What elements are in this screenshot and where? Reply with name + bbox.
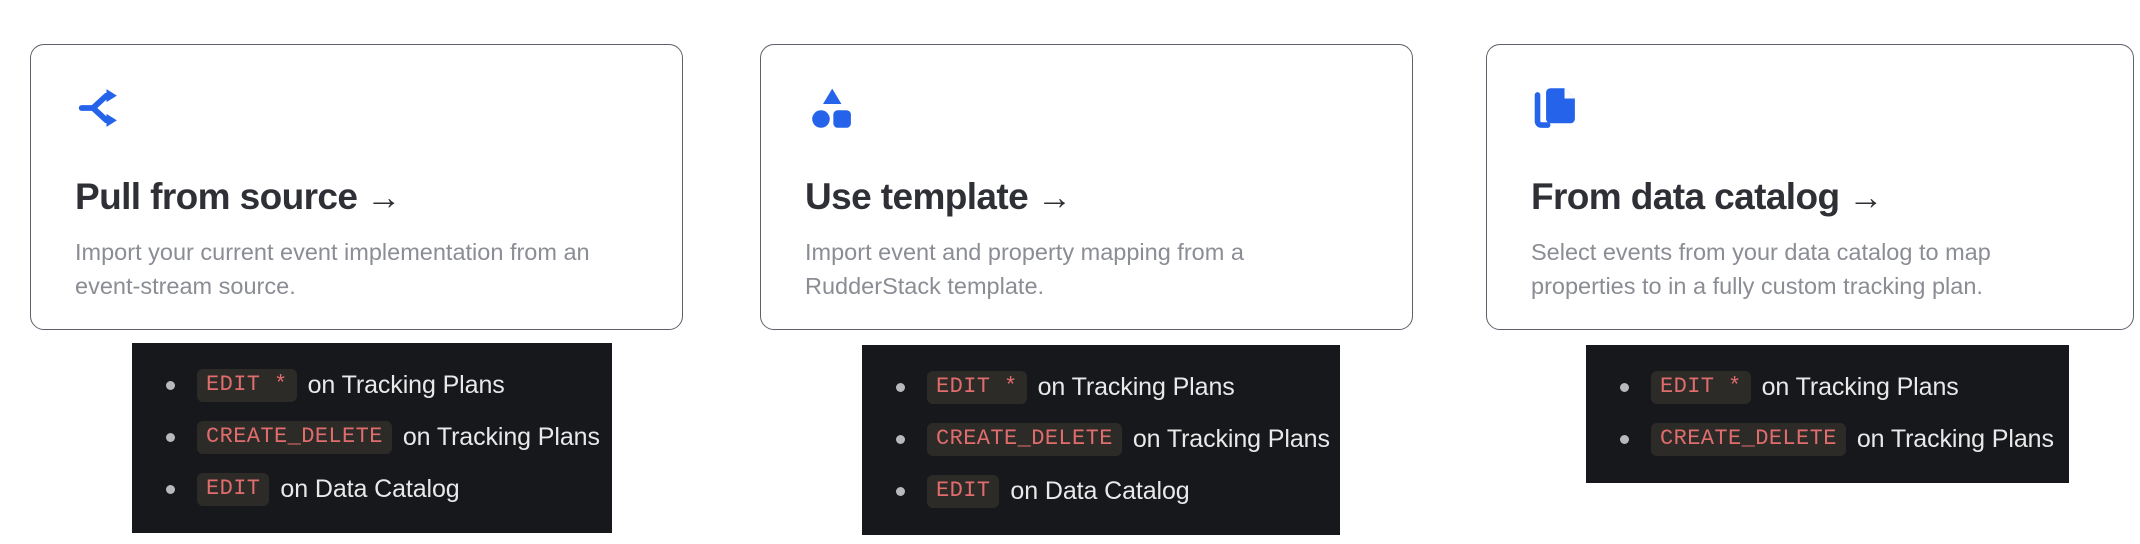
card-title-text: From data catalog (1531, 176, 1839, 217)
permission-scope: on Tracking Plans (1133, 425, 1330, 454)
card-pull-from-source[interactable]: Pull from source→ Import your current ev… (30, 44, 683, 330)
arrow-right-icon: → (1037, 178, 1071, 217)
permission-code: EDIT * (927, 371, 1027, 404)
bullet-icon (1620, 383, 1629, 392)
permission-code: EDIT (197, 473, 269, 506)
bullet-icon (166, 381, 175, 390)
bullet-icon (896, 435, 905, 444)
card-title-text: Use template (805, 176, 1028, 217)
card-title-text: Pull from source (75, 176, 357, 217)
permission-item: EDIT * on Tracking Plans (154, 359, 590, 411)
card-title: Pull from source→ (75, 177, 638, 218)
permission-item: EDIT on Data Catalog (154, 463, 590, 515)
permission-code: EDIT (927, 475, 999, 508)
card-column-pull-from-source: Pull from source→ Import your current ev… (22, 0, 682, 544)
permission-scope: on Tracking Plans (1762, 373, 1959, 402)
card-title: Use template→ (805, 177, 1368, 218)
permission-item: EDIT on Data Catalog (884, 465, 1318, 517)
arrow-right-icon: → (1848, 178, 1882, 217)
permission-scope: on Data Catalog (280, 475, 459, 504)
permission-code: EDIT * (197, 369, 297, 402)
permissions-block: EDIT * on Tracking Plans CREATE_DELETE o… (1586, 345, 2069, 483)
permission-scope: on Tracking Plans (308, 371, 505, 400)
permission-item: CREATE_DELETE on Tracking Plans (1608, 413, 2047, 465)
card-column-from-data-catalog: From data catalog→ Select events from yo… (1478, 0, 2138, 544)
permission-item: EDIT * on Tracking Plans (1608, 361, 2047, 413)
arrow-right-icon: → (366, 178, 400, 217)
card-description: Import your current event implementation… (75, 235, 615, 305)
permission-scope: on Tracking Plans (1038, 373, 1235, 402)
card-description: Select events from your data catalog to … (1531, 235, 2051, 305)
shapes-icon (805, 81, 859, 135)
card-column-use-template: Use template→ Import event and property … (752, 0, 1412, 544)
permission-code: EDIT * (1651, 371, 1751, 404)
card-description: Import event and property mapping from a… (805, 235, 1345, 305)
card-grid: Pull from source→ Import your current ev… (0, 0, 2140, 544)
permissions-block: EDIT * on Tracking Plans CREATE_DELETE o… (862, 345, 1340, 535)
permission-item: CREATE_DELETE on Tracking Plans (884, 413, 1318, 465)
permission-code: CREATE_DELETE (197, 421, 392, 454)
permission-item: CREATE_DELETE on Tracking Plans (154, 411, 590, 463)
permission-scope: on Tracking Plans (1857, 425, 2054, 454)
permission-item: EDIT * on Tracking Plans (884, 361, 1318, 413)
split-branch-icon (75, 81, 129, 135)
bullet-icon (896, 383, 905, 392)
card-use-template[interactable]: Use template→ Import event and property … (760, 44, 1413, 330)
permission-code: CREATE_DELETE (1651, 423, 1846, 456)
bullet-icon (166, 433, 175, 442)
bullet-icon (1620, 435, 1629, 444)
card-title: From data catalog→ (1531, 177, 2089, 218)
permission-scope: on Tracking Plans (403, 423, 600, 452)
card-from-data-catalog[interactable]: From data catalog→ Select events from yo… (1486, 44, 2134, 330)
bullet-icon (166, 485, 175, 494)
copy-documents-icon (1531, 81, 1585, 135)
bullet-icon (896, 487, 905, 496)
permissions-block: EDIT * on Tracking Plans CREATE_DELETE o… (132, 343, 612, 533)
permission-code: CREATE_DELETE (927, 423, 1122, 456)
permission-scope: on Data Catalog (1010, 477, 1189, 506)
